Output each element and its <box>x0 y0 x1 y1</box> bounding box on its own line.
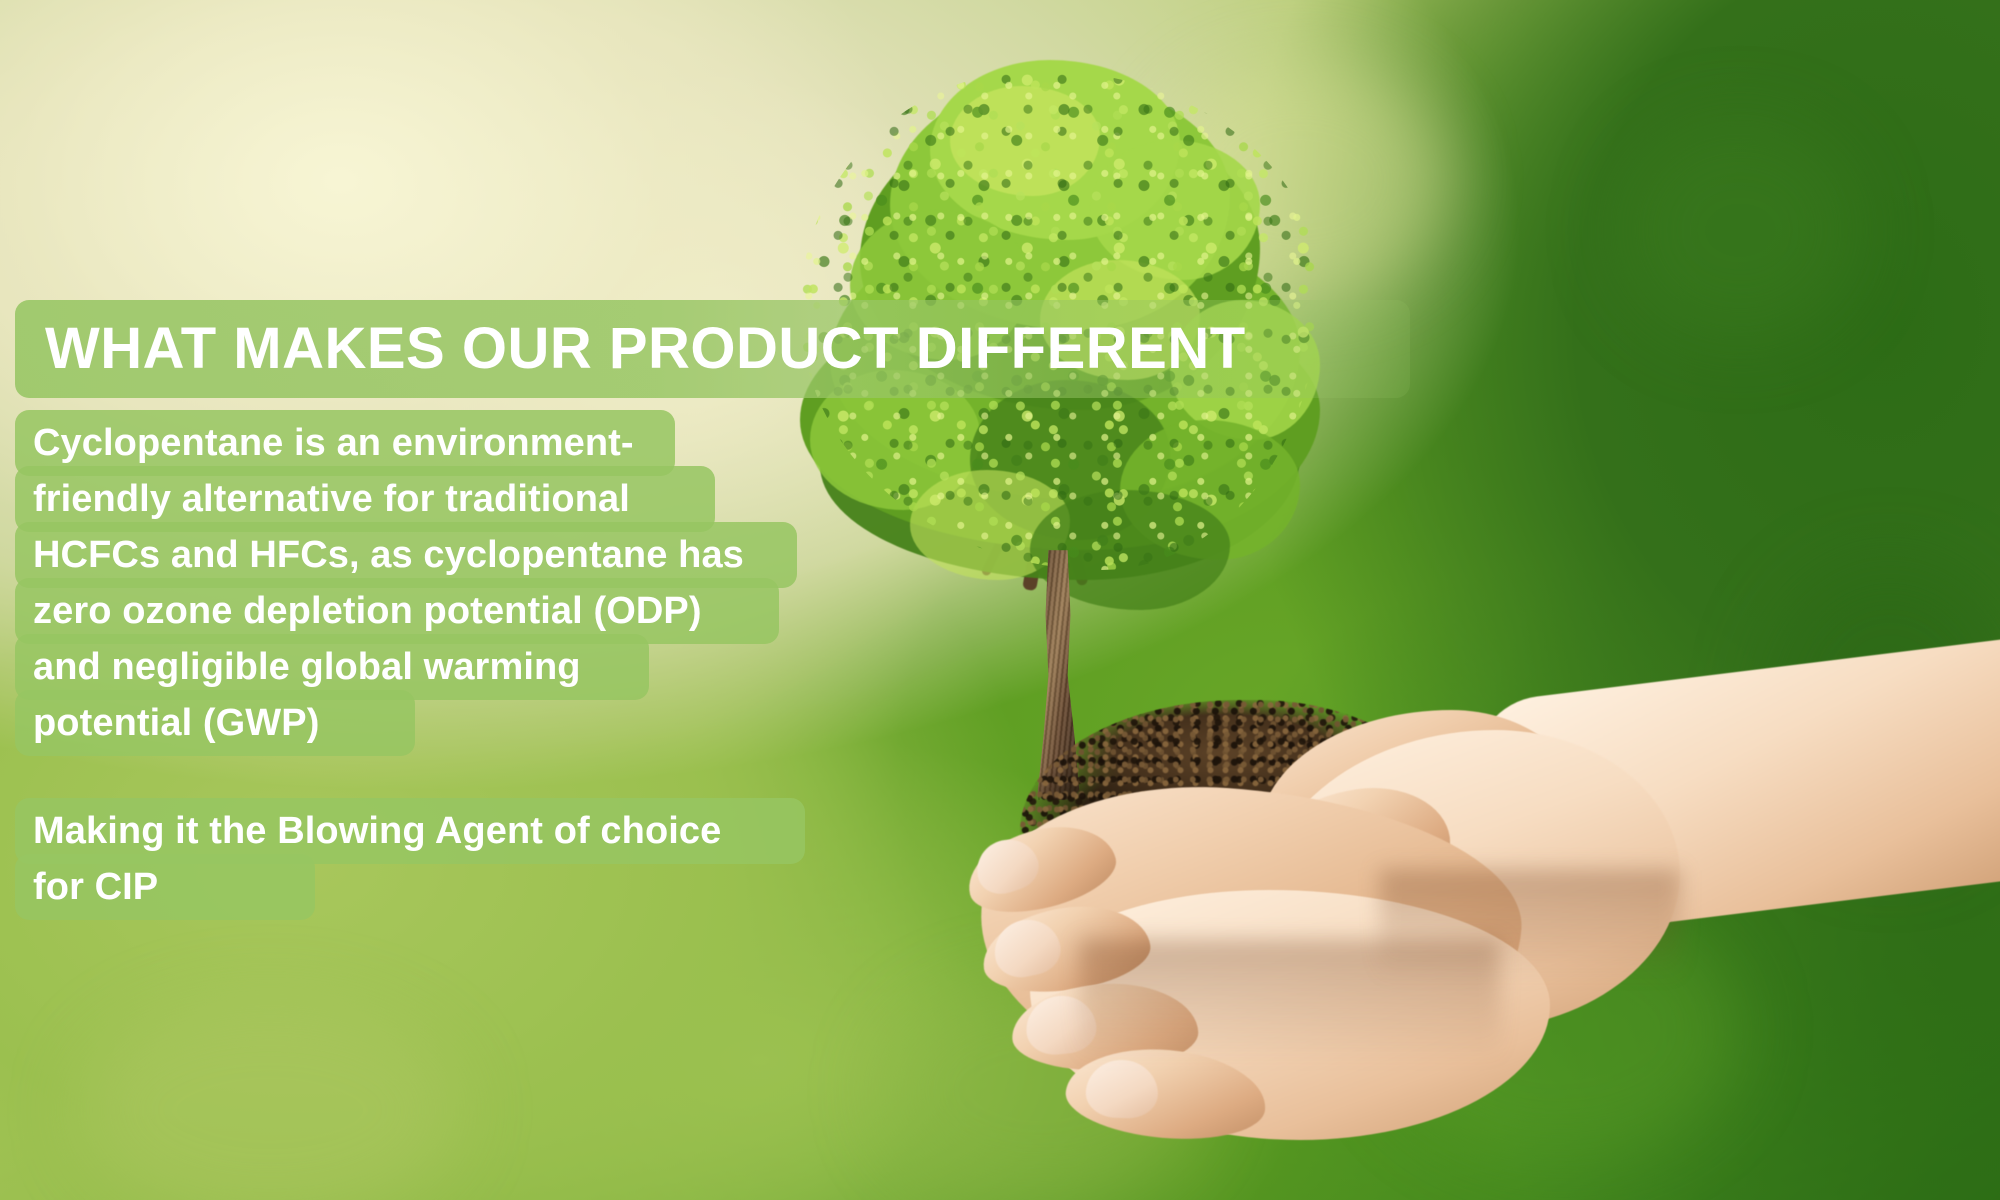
text-line: friendly alternative for traditional <box>15 471 744 527</box>
text-line-label: friendly alternative for traditional <box>15 471 630 527</box>
text-line-label: Making it the Blowing Agent of choice <box>15 803 721 859</box>
paragraph-1: Cyclopentane is an environment- friendly… <box>15 415 744 751</box>
text-line-label: for CIP <box>15 859 158 915</box>
body-copy: Cyclopentane is an environment- friendly… <box>15 415 744 915</box>
text-line-label: Cyclopentane is an environment- <box>15 415 634 471</box>
text-line-label: HCFCs and HFCs, as cyclopentane has <box>15 527 744 583</box>
text-line-label: and negligible global warming <box>15 639 581 695</box>
text-line: HCFCs and HFCs, as cyclopentane has <box>15 527 744 583</box>
page-title: WHAT MAKES OUR PRODUCT DIFFERENT <box>45 314 1246 384</box>
slide-canvas: WHAT MAKES OUR PRODUCT DIFFERENT Cyclope… <box>0 0 2000 1200</box>
text-overlay: WHAT MAKES OUR PRODUCT DIFFERENT Cyclope… <box>0 0 2000 1200</box>
paragraph-2: Making it the Blowing Agent of choice fo… <box>15 803 744 915</box>
text-line: and negligible global warming <box>15 639 744 695</box>
text-line: for CIP <box>15 859 744 915</box>
text-line: Making it the Blowing Agent of choice <box>15 803 744 859</box>
text-line: Cyclopentane is an environment- <box>15 415 744 471</box>
text-line-label: zero ozone depletion potential (ODP) <box>15 583 702 639</box>
text-line: zero ozone depletion potential (ODP) <box>15 583 744 639</box>
text-line: potential (GWP) <box>15 695 744 751</box>
text-line-label: potential (GWP) <box>15 695 319 751</box>
